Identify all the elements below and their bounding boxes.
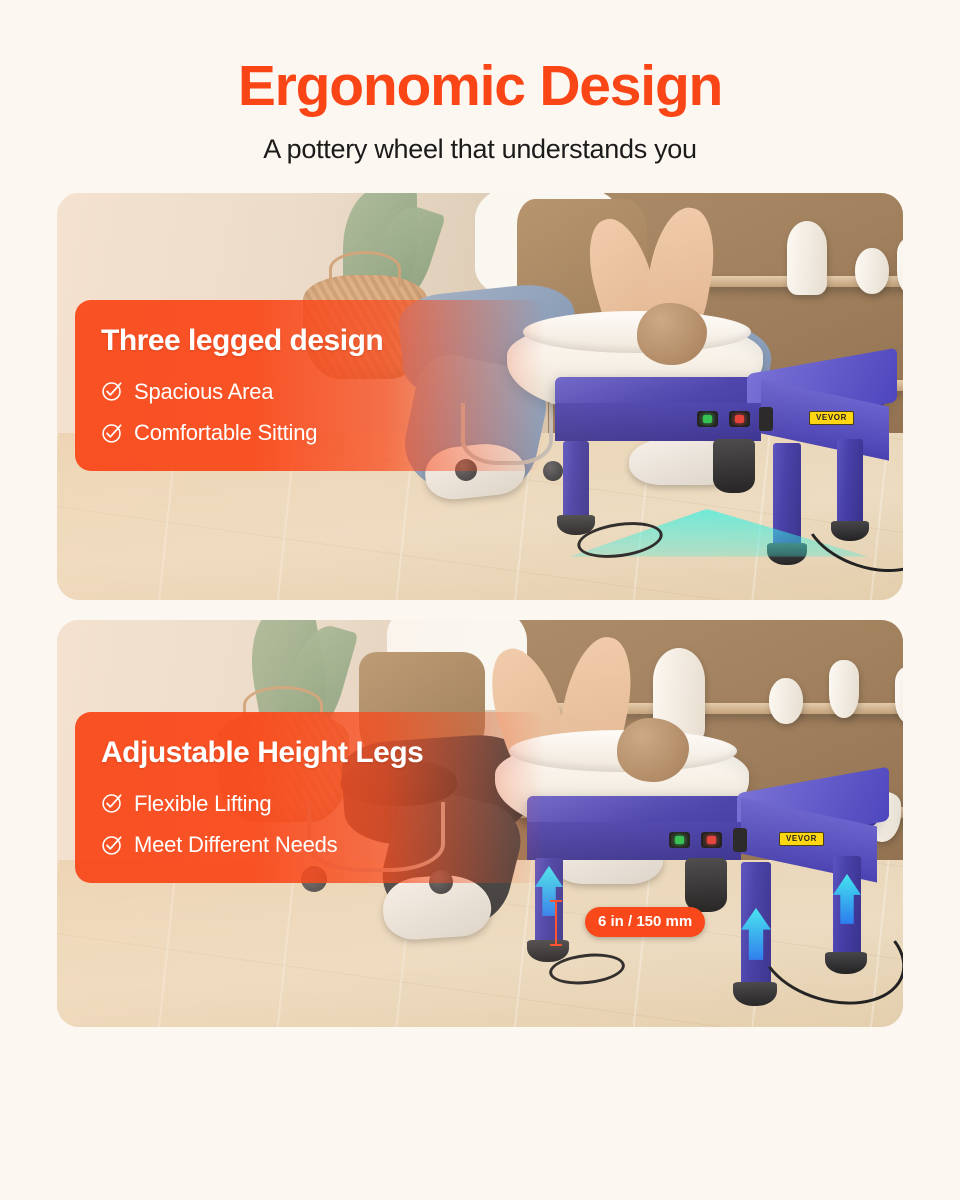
brand-badge: VEVOR — [779, 832, 824, 846]
feature-card-three-legged-design[interactable]: VEVOR Three legged design Sp — [57, 193, 903, 600]
feature-card-adjustable-height-legs[interactable]: VEVOR 6 in / 150 mm Adjustable Height Le… — [57, 620, 903, 1027]
clay-lump — [637, 303, 707, 365]
ceramic-vase — [787, 221, 827, 295]
card-title: Adjustable Height Legs — [101, 736, 519, 769]
adjustable-leg — [563, 441, 589, 519]
motor-housing — [713, 439, 755, 493]
measurement-bracket — [555, 900, 557, 946]
feature-label: Spacious Area — [134, 379, 273, 404]
brand-badge: VEVOR — [809, 411, 854, 425]
feature-label: Meet Different Needs — [134, 832, 337, 857]
feature-card-list: VEVOR Three legged design Sp — [0, 193, 960, 1027]
check-circle-icon — [101, 792, 123, 814]
check-circle-icon — [101, 422, 123, 444]
feature-label: Comfortable Sitting — [134, 420, 317, 445]
stool-caster — [543, 461, 563, 481]
power-switch-on[interactable] — [669, 832, 690, 848]
page-subtitle: A pottery wheel that understands you — [0, 134, 960, 165]
feature-overlay-panel: Adjustable Height Legs Flexible Lifting … — [75, 712, 545, 884]
power-plug — [733, 828, 747, 852]
power-switch-on[interactable] — [697, 411, 718, 427]
feature-item: Meet Different Needs — [101, 832, 519, 857]
page-header: Ergonomic Design A pottery wheel that un… — [0, 0, 960, 165]
ceramic-vase — [855, 248, 889, 294]
feature-item: Flexible Lifting — [101, 791, 519, 816]
check-circle-icon — [101, 380, 123, 402]
card-title: Three legged design — [101, 324, 519, 357]
check-circle-icon — [101, 834, 123, 856]
clay-lump — [617, 718, 689, 782]
power-switch-off[interactable] — [701, 832, 722, 848]
ceramic-vase — [829, 660, 859, 718]
measurement-badge: 6 in / 150 mm — [585, 907, 705, 937]
feature-bullet-list: Spacious Area Comfortable Sitting — [101, 379, 519, 446]
power-switch-off[interactable] — [729, 411, 750, 427]
feature-item: Comfortable Sitting — [101, 420, 519, 445]
basket-handle — [329, 251, 401, 287]
feature-overlay-panel: Three legged design Spacious Area Comfor… — [75, 300, 545, 472]
motor-housing — [685, 858, 727, 912]
page-title: Ergonomic Design — [0, 57, 960, 117]
feature-item: Spacious Area — [101, 379, 519, 404]
ceramic-vase — [769, 678, 803, 724]
feature-label: Flexible Lifting — [134, 791, 271, 816]
feature-bullet-list: Flexible Lifting Meet Different Needs — [101, 791, 519, 858]
power-plug — [759, 407, 773, 431]
